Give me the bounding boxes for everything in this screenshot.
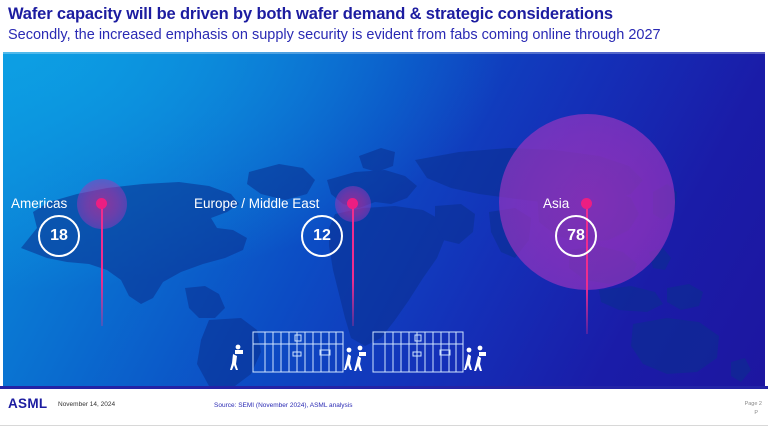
worker-figures-icon bbox=[230, 345, 486, 371]
map-panel: Americas Europe / Middle East Asia 18 12… bbox=[3, 52, 765, 386]
footer-source: Source: SEMI (November 2024), ASML analy… bbox=[214, 402, 352, 409]
pin-stem-americas bbox=[101, 204, 103, 326]
footer-page-number: Page 2 bbox=[745, 400, 762, 408]
page-title: Wafer capacity will be driven by both wa… bbox=[8, 4, 760, 24]
slide-header: Wafer capacity will be driven by both wa… bbox=[0, 0, 768, 45]
pin-dot-americas bbox=[96, 198, 107, 209]
footer-date: November 14, 2024 bbox=[58, 401, 115, 408]
pin-dot-asia bbox=[581, 198, 592, 209]
fab-buildings-icon bbox=[225, 324, 491, 380]
count-ring-americas: 18 bbox=[38, 215, 80, 257]
count-ring-asia: 78 bbox=[555, 215, 597, 257]
pin-stem-europe bbox=[352, 204, 354, 326]
footer-top-rule bbox=[0, 386, 768, 389]
region-label-europe: Europe / Middle East bbox=[194, 196, 319, 212]
slide: Wafer capacity will be driven by both wa… bbox=[0, 0, 768, 427]
pin-dot-europe bbox=[347, 198, 358, 209]
footer-classification: P bbox=[754, 409, 758, 417]
count-ring-europe: 12 bbox=[301, 215, 343, 257]
region-label-americas: Americas bbox=[11, 196, 67, 212]
page-subtitle: Secondly, the increased emphasis on supp… bbox=[8, 25, 760, 45]
asml-logo: ASML bbox=[8, 396, 47, 411]
footer-bottom-rule bbox=[0, 425, 768, 426]
fab-illustration bbox=[225, 324, 491, 380]
region-label-asia: Asia bbox=[543, 196, 569, 212]
slide-footer bbox=[0, 386, 768, 427]
